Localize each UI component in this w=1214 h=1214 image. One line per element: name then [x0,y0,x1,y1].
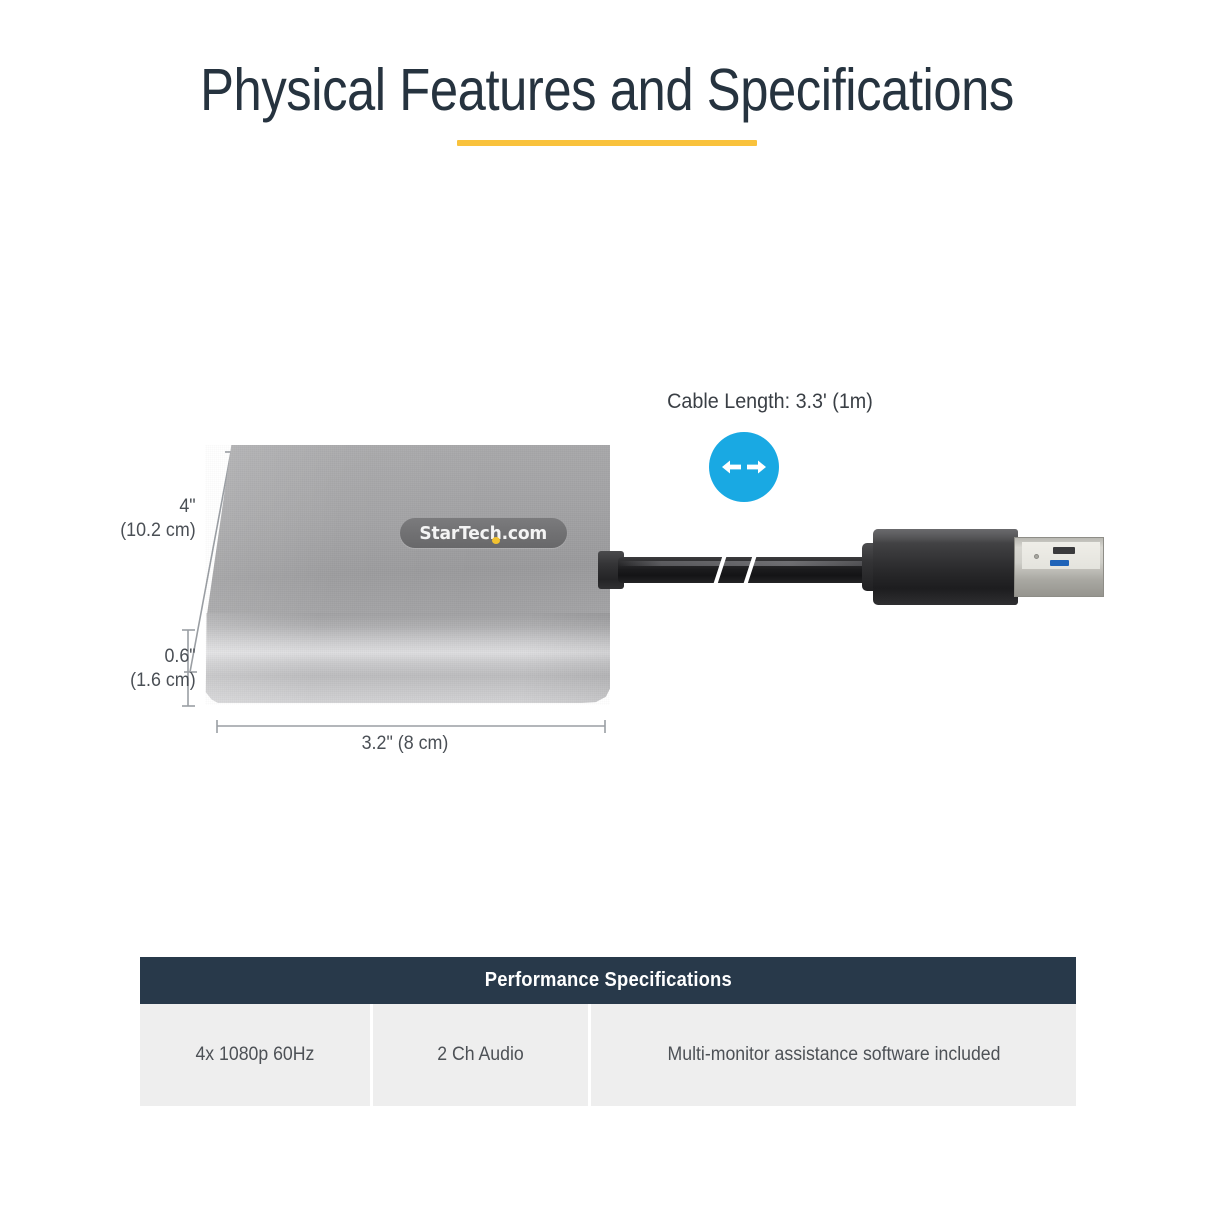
logo-dot-icon [492,537,500,544]
spec-cell-audio: 2 Ch Audio [373,1004,588,1106]
dimension-depth-inches: 0.6" [59,645,195,669]
performance-specifications-table: Performance Specifications 4x 1080p 60Hz… [140,957,1076,1106]
brand-logo-text: StarTech.com [420,523,548,544]
startech-logo-badge: StarTech.com [400,518,567,548]
dimension-depth-label: 0.6" (1.6 cm) [59,645,195,693]
spec-cell-resolution-text: 4x 1080p 60Hz [196,1044,315,1066]
usb-shell-dimple-icon [1034,554,1039,559]
cable-length-label: Cable Length: 3.3' (1m) [573,390,968,414]
usb-contact-block-icon [1053,547,1075,554]
spec-cell-resolution: 4x 1080p 60Hz [140,1004,370,1106]
spec-table-header: Performance Specifications [140,957,1076,1004]
cable-length-badge [709,432,779,502]
dimension-height-label: 4" (10.2 cm) [59,495,195,543]
dimension-height-inches: 4" [59,495,195,519]
device-body [205,445,610,705]
spec-table-row: 4x 1080p 60Hz 2 Ch Audio Multi-monitor a… [140,1004,1076,1106]
double-arrow-horizontal-icon [721,457,767,477]
dimension-depth-cm: (1.6 cm) [59,669,195,693]
spec-cell-software-text: Multi-monitor assistance software includ… [667,1044,1000,1066]
spec-cell-software: Multi-monitor assistance software includ… [591,1004,1076,1106]
device-front-highlight [205,613,610,703]
dimension-height-cm: (10.2 cm) [59,519,195,543]
product-illustration: StarTech.com Cable Length: 3.3' (1m) 4" … [0,0,1214,900]
dimension-width-label: 3.2" (8 cm) [217,733,593,755]
spec-table-header-text: Performance Specifications [484,969,731,992]
usb3-blue-contact-icon [1050,560,1069,566]
usb-connector-housing-highlight [873,529,1018,543]
spec-cell-audio-text: 2 Ch Audio [437,1044,523,1066]
